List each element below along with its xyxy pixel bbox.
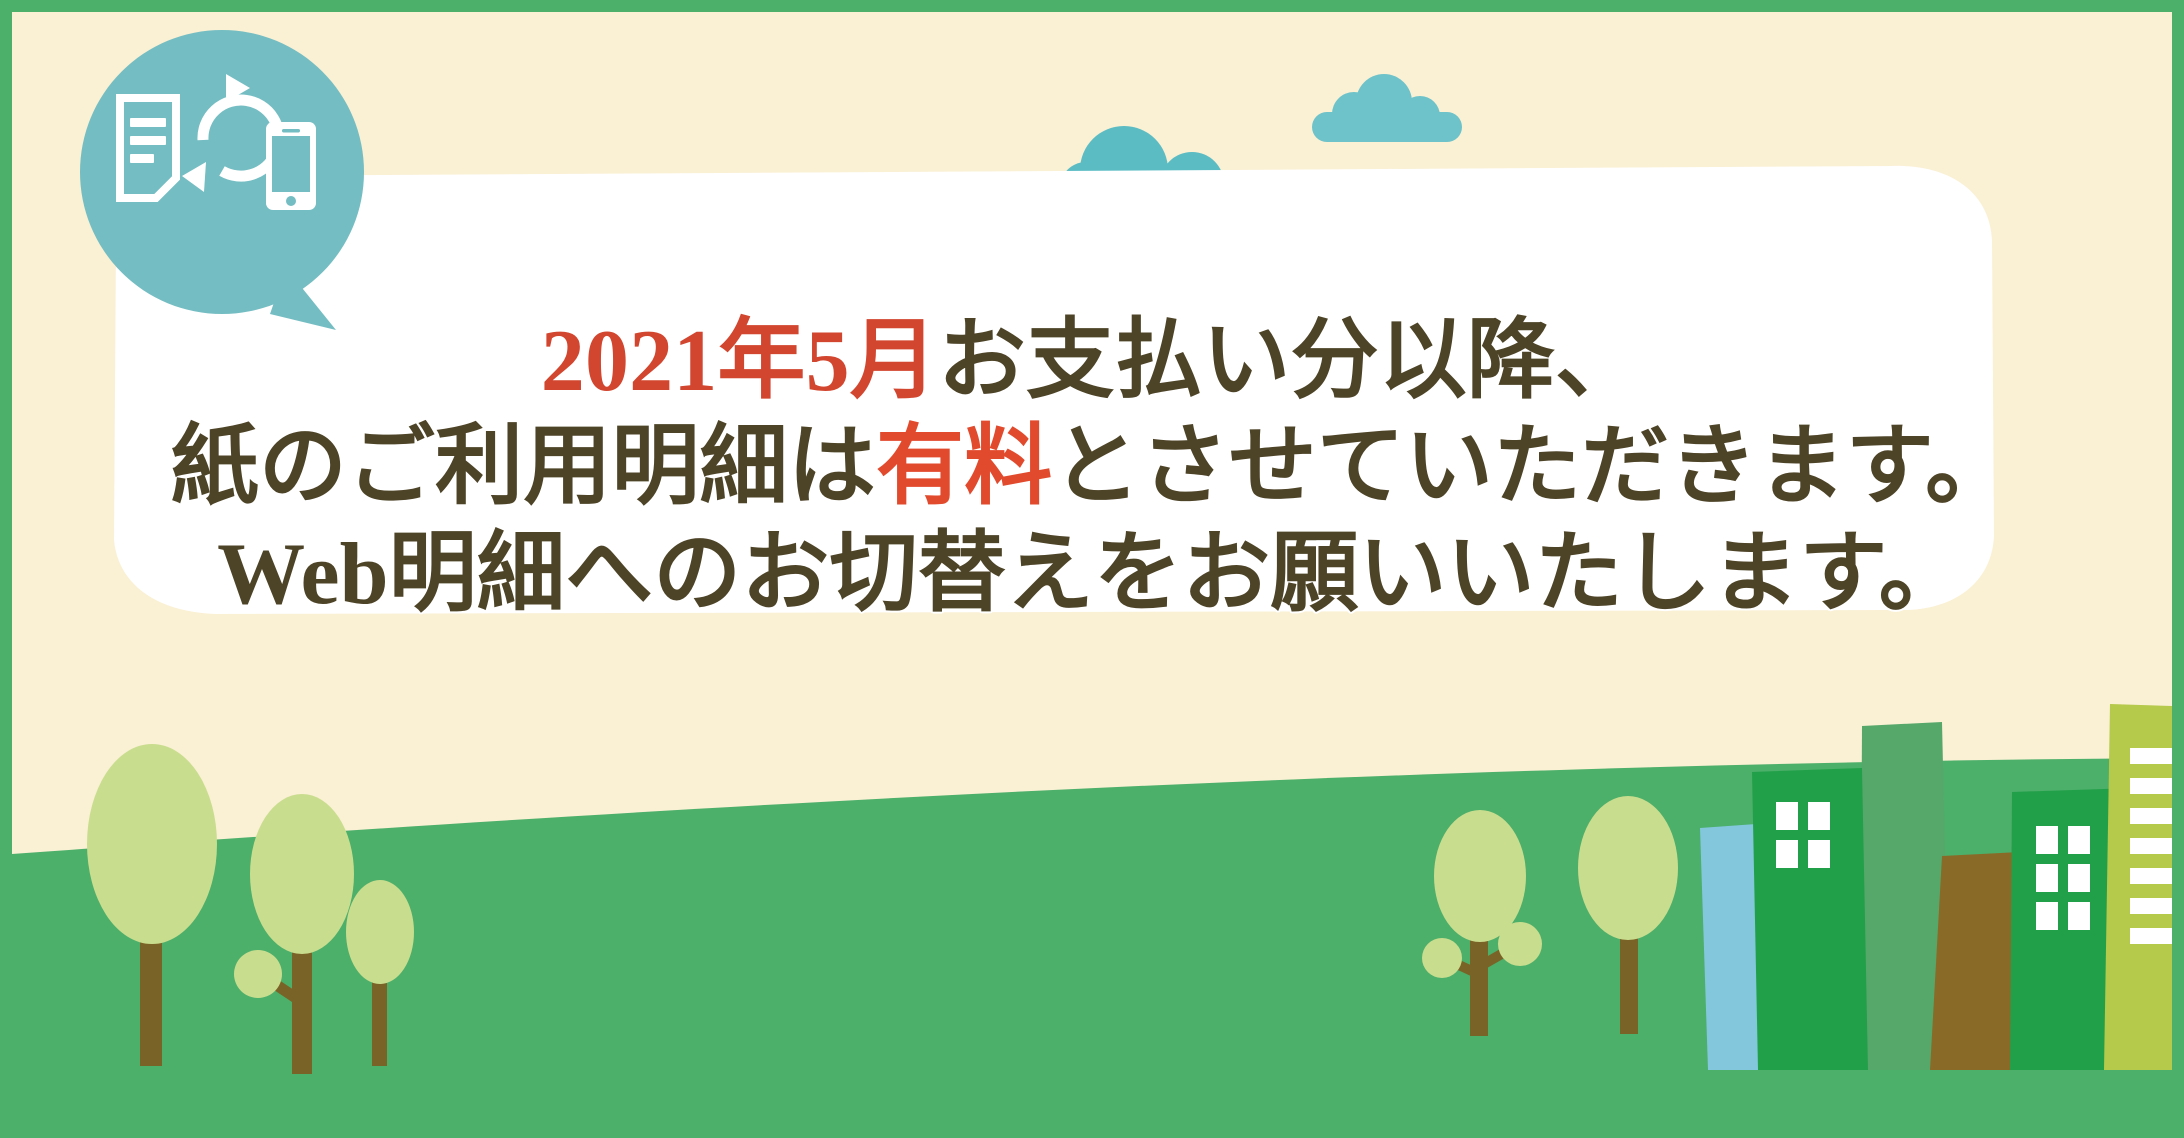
tree-group-right [1412,776,1732,1086]
message-line-3: Web明細へのお切替えをお願いいたします。 [12,525,2172,625]
tree-group-left [52,716,472,1106]
tree-right-1 [1422,810,1542,1036]
smartphone-icon [266,122,316,210]
message-line-2-post: とさせていただきます。 [1052,419,2013,516]
message-line-1: 2021年5月お支払い分以降、 [12,312,2172,412]
message-line-3-underlined: Web明細へのお切替え [217,525,1094,625]
cloud-small [1312,72,1462,142]
message-line-3-rest: をお願いいたします。 [1094,526,1967,623]
tree-left-2 [234,794,354,1074]
message-line-2: 紙のご利用明細は有料とさせていただきます。 [12,418,2172,518]
message-line-2-pre: 紙のご利用明細は [171,419,876,516]
speech-bubble-icon [74,30,384,340]
message-text: 2021年5月お支払い分以降、 紙のご利用明細は有料とさせていただきます。 We… [12,312,2172,625]
message-line-1-accent: 2021年5月 [541,313,938,410]
paperless-billing-banner: 2021年5月お支払い分以降、 紙のご利用明細は有料とさせていただきます。 We… [0,0,2184,1138]
tree-left-1 [87,744,217,1066]
message-line-1-rest: お支払い分以降、 [938,313,1643,410]
tree-right-2 [1578,796,1678,1034]
tree-left-3 [346,880,414,1066]
banner-inner-field: 2021年5月お支払い分以降、 紙のご利用明細は有料とさせていただきます。 We… [12,12,2172,1126]
message-line-2-accent: 有料 [876,419,1052,516]
